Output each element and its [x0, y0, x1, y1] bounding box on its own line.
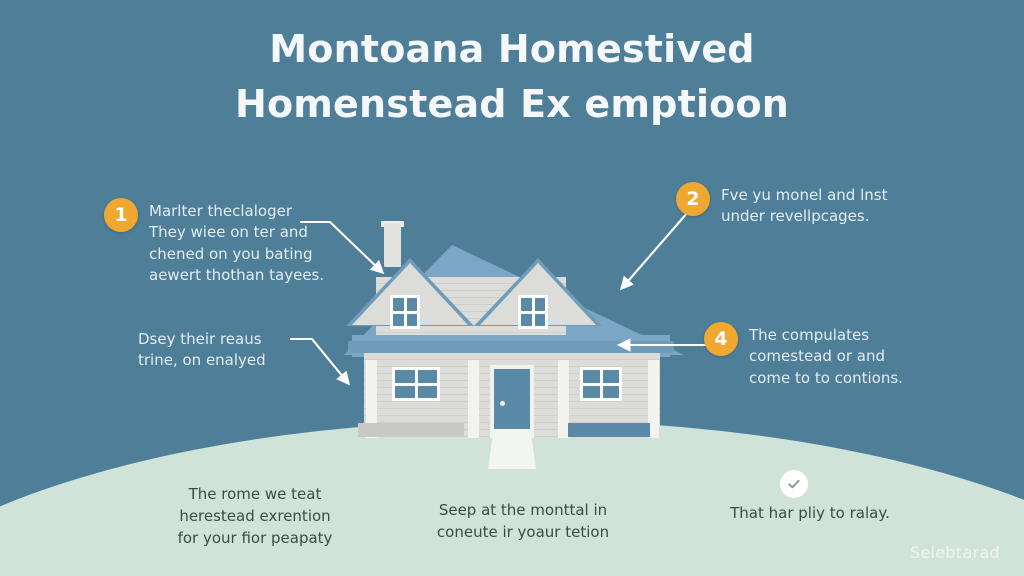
- callout-4-badge: 4: [704, 322, 738, 356]
- dormer-left-window: [390, 295, 420, 329]
- title-line-2: Homenstead Ex emptioon: [0, 77, 1024, 132]
- callout-1[interactable]: 1 Marlter theclaloger They wiee on ter a…: [104, 198, 324, 286]
- callout-1-text: Marlter theclaloger They wiee on ter and…: [149, 198, 324, 286]
- window-panes: [393, 298, 417, 326]
- window-pane: [393, 314, 404, 327]
- window-pane: [521, 314, 532, 327]
- window-panes: [521, 298, 545, 326]
- ground-left-window: [392, 367, 440, 401]
- front-door: [490, 365, 534, 438]
- window-pane: [395, 386, 415, 399]
- house-illustration: [330, 215, 695, 450]
- walkway: [488, 429, 536, 469]
- watermark: Selebtarad: [910, 543, 1000, 562]
- note-center: Seep at the monttal in coneute ir yoaur …: [388, 500, 658, 544]
- roof-eave: [348, 341, 674, 353]
- window-panes: [583, 370, 619, 398]
- page-title: Montoana Homestived Homenstead Ex emptio…: [0, 22, 1024, 132]
- window-panes: [395, 370, 437, 398]
- title-line-1: Montoana Homestived: [0, 22, 1024, 77]
- note-right: That har pliy to ralay.: [660, 503, 960, 525]
- window-pane: [418, 370, 438, 383]
- callout-3[interactable]: Dsey their reaus trine, on enalyed: [138, 329, 266, 372]
- window-pane: [418, 386, 438, 399]
- window-pane: [393, 298, 404, 311]
- callout-2-badge: 2: [676, 182, 710, 216]
- window-pane: [521, 298, 532, 311]
- callout-4-text: The compulates comestead or and come to …: [749, 322, 903, 389]
- window-pane: [535, 314, 546, 327]
- window-pane: [407, 314, 418, 327]
- callout-2[interactable]: 2 Fve yu monel and lnst under revellpcag…: [676, 182, 887, 228]
- check-icon: [780, 470, 808, 498]
- window-pane: [583, 370, 600, 383]
- window-pane: [395, 370, 415, 383]
- window-pane: [407, 298, 418, 311]
- window-pane: [535, 298, 546, 311]
- porch-column: [468, 360, 479, 438]
- callout-2-text: Fve yu monel and lnst under revellpcages…: [721, 182, 887, 228]
- callout-4[interactable]: 4 The compulates comestead or and come t…: [704, 322, 903, 389]
- porch-step-left: [358, 423, 464, 437]
- window-pane: [603, 370, 620, 383]
- callout-3-text: Dsey their reaus trine, on enalyed: [138, 329, 266, 372]
- doorknob-icon: [500, 401, 505, 406]
- window-pane: [583, 386, 600, 399]
- dormer-right-window: [518, 295, 548, 329]
- ground-right-window: [580, 367, 622, 401]
- infographic-canvas: Montoana Homestived Homenstead Ex emptio…: [0, 0, 1024, 576]
- note-left: The rome we teat herestead exrention for…: [120, 484, 390, 549]
- porch-step-right: [568, 423, 650, 437]
- window-pane: [603, 386, 620, 399]
- callout-1-badge: 1: [104, 198, 138, 232]
